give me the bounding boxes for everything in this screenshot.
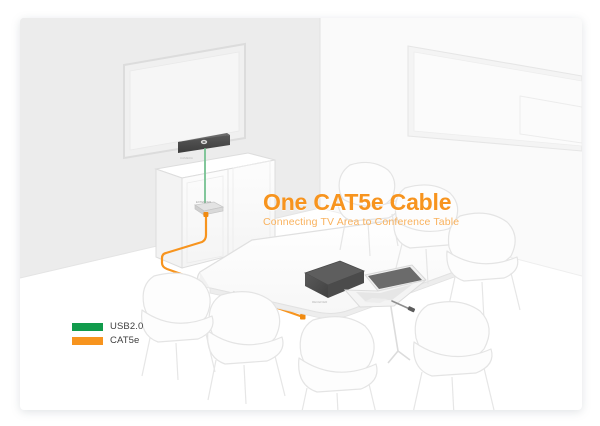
legend-item-usb: USB2.0 (72, 321, 143, 333)
usb-swatch (72, 323, 103, 331)
cat5e-swatch (72, 337, 103, 345)
receiver-label-text: RECEIVER (312, 300, 328, 304)
illustration-panel: CAMERA EXTENDER (20, 18, 582, 410)
conference-room-illustration: CAMERA EXTENDER (20, 18, 582, 410)
cat5e-connector-transmitter (203, 212, 208, 217)
transmitter-label-text: EXTENDER (196, 200, 211, 204)
legend-label-usb: USB2.0 (110, 322, 143, 332)
legend-label-cat5e: CAT5e (110, 336, 139, 346)
soundbar-brand-text: CAMERA (180, 156, 193, 160)
diagram-stage: CAMERA EXTENDER (0, 0, 600, 426)
legend: USB2.0 CAT5e (72, 321, 143, 349)
legend-item-cat5e: CAT5e (72, 335, 143, 347)
